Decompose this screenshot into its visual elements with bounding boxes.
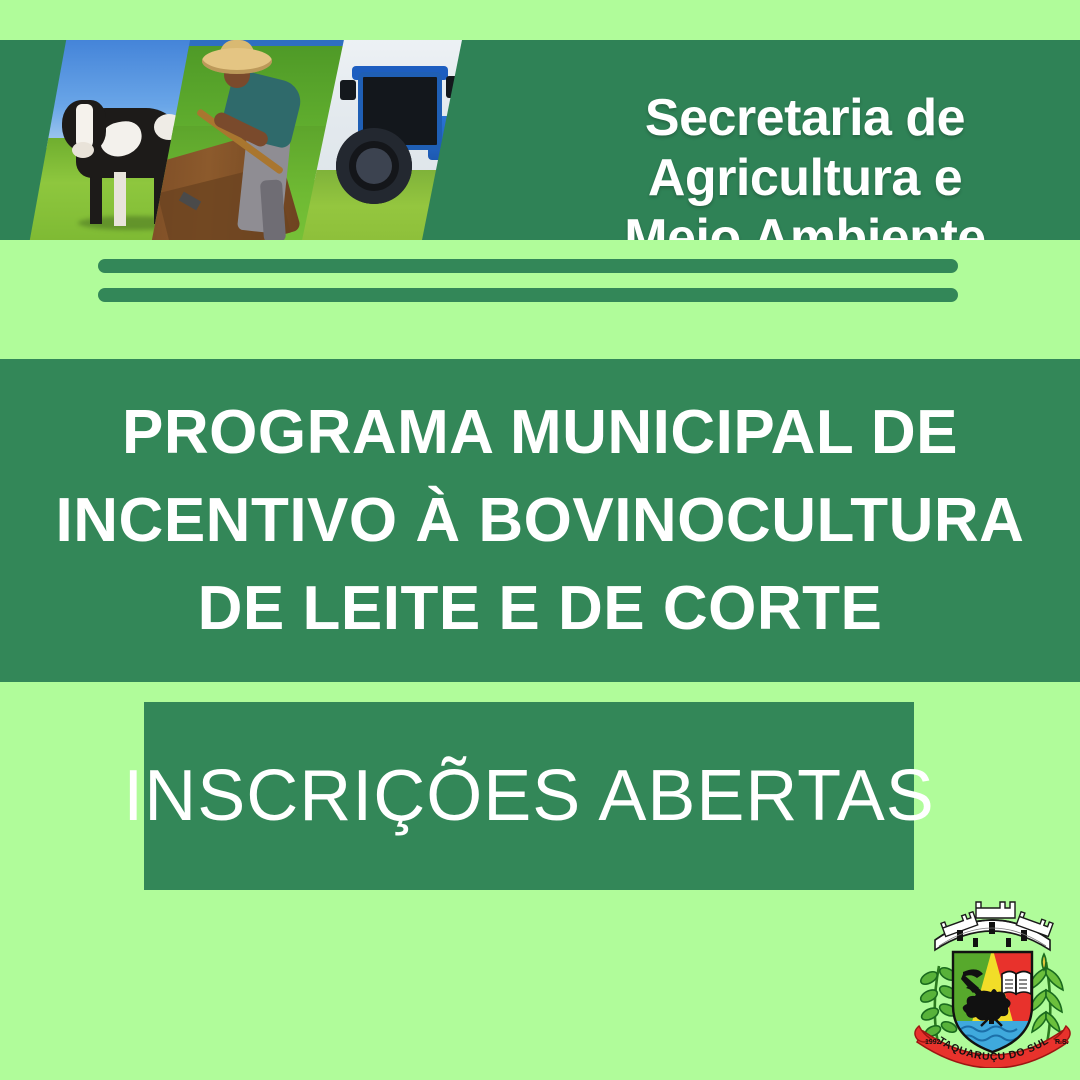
tractor-mirror (340, 80, 356, 100)
shield-icon (945, 948, 1041, 1058)
tractor-rear-hub (356, 148, 392, 184)
organization-title-line-2: Agricultura e (545, 148, 1065, 208)
right-branch-icon (1029, 954, 1063, 1043)
program-title-band: PROGRAMA MUNICIPAL DE INCENTIVO À BOVINO… (0, 359, 1080, 682)
farmer-straw-hat (202, 48, 272, 74)
decorative-bar-bottom (98, 288, 958, 302)
decorative-bar-top (98, 259, 958, 273)
cow-leg (114, 172, 126, 226)
organization-title-line-3: Meio Ambiente (545, 208, 1065, 240)
registrations-open-box: INSCRIÇÕES ABERTAS (144, 702, 914, 890)
program-title: PROGRAMA MUNICIPAL DE INCENTIVO À BOVINO… (20, 389, 1060, 653)
organization-title-line-1: Secretaria de (545, 88, 1065, 148)
open-book-charge (1002, 972, 1031, 995)
farmer-leg (260, 179, 286, 240)
program-title-line-1: PROGRAMA MUNICIPAL DE (20, 389, 1060, 477)
ribbon-right-text: R.S. (1055, 1039, 1069, 1046)
header-photo-strip (0, 40, 500, 240)
mural-crown-icon (935, 902, 1053, 950)
organization-title: Secretaria de Agricultura e Meio Ambient… (545, 88, 1065, 240)
municipal-coat-of-arms: TAQUARUÇU DO SUL 1992 R.S. (905, 888, 1080, 1068)
program-title-line-2: INCENTIVO À BOVINOCULTURA (20, 477, 1060, 565)
poster-root: Secretaria de Agricultura e Meio Ambient… (0, 0, 1080, 1080)
header-banner: Secretaria de Agricultura e Meio Ambient… (0, 40, 1080, 240)
ribbon-left-text: 1992 (925, 1039, 941, 1046)
program-title-line-3: DE LEITE E DE CORTE (20, 565, 1060, 653)
cow-muzzle (72, 142, 94, 158)
registrations-open-label: INSCRIÇÕES ABERTAS (123, 756, 935, 836)
cow-leg (90, 170, 102, 224)
